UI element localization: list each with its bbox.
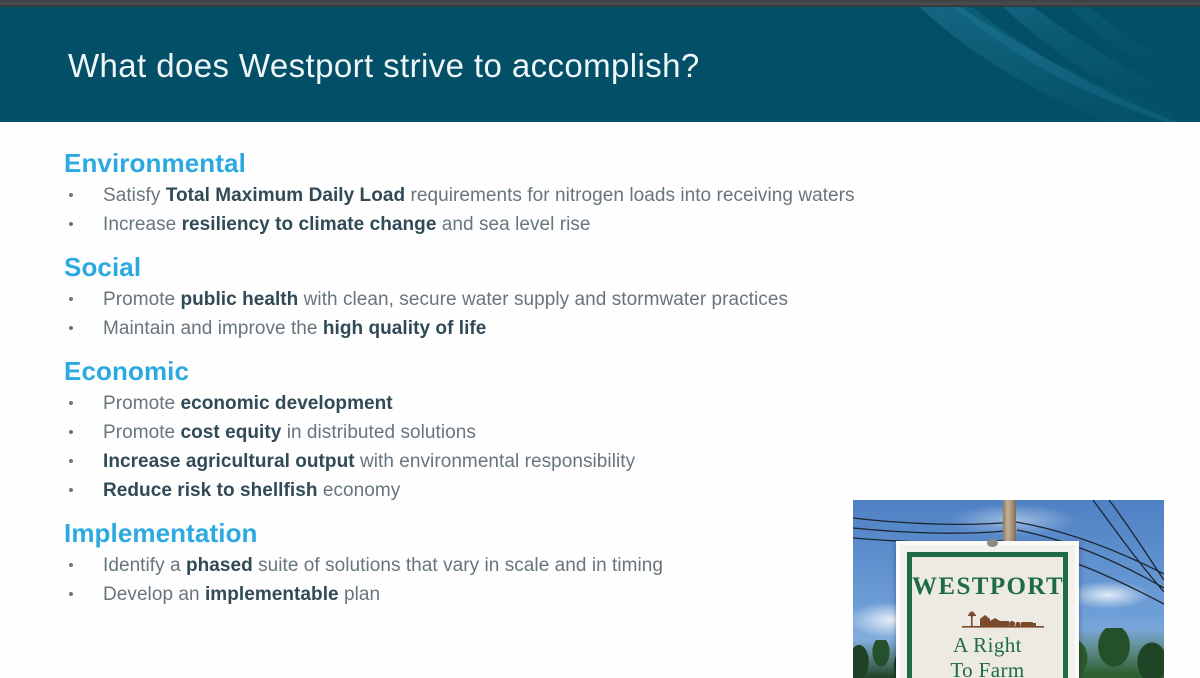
group-heading: Environmental — [64, 148, 855, 178]
bullet-dot-icon — [69, 401, 73, 405]
bullet-dot-icon — [69, 193, 73, 197]
slide-body: Environmental Satisfy Total Maximum Dail… — [0, 122, 1200, 678]
list-item: Promote economic development — [64, 389, 635, 418]
group-heading: Social — [64, 252, 788, 282]
sign-town-name: WESTPORT — [912, 574, 1063, 599]
slide-header: What does Westport strive to accomplish? — [0, 7, 1200, 122]
bullet-dot-icon — [69, 297, 73, 301]
list-item: Develop an implementable plan — [64, 580, 663, 609]
list-item: Promote public health with clean, secure… — [64, 285, 788, 314]
list-item: Promote cost equity in distributed solut… — [64, 418, 635, 447]
bullet-list: Satisfy Total Maximum Daily Load require… — [64, 181, 855, 239]
slide: What does Westport strive to accomplish?… — [0, 0, 1200, 678]
bullet-dot-icon — [69, 563, 73, 567]
farm-silhouette-icon — [962, 608, 1044, 628]
list-item: Maintain and improve the high quality of… — [64, 314, 788, 343]
sign-slogan-line: A Right — [912, 633, 1063, 658]
list-item: Identify a phased suite of solutions tha… — [64, 551, 663, 580]
bullet-text: Promote public health with clean, secure… — [103, 289, 788, 310]
list-item: Satisfy Total Maximum Daily Load require… — [64, 181, 855, 210]
bullet-dot-icon — [69, 459, 73, 463]
sign-slogan-line: To Farm — [912, 658, 1063, 678]
westport-sign-photo: WESTPORT — [853, 500, 1164, 678]
bullet-list: Identify a phased suite of solutions tha… — [64, 551, 663, 609]
bullet-text: Increase agricultural output with enviro… — [103, 451, 635, 472]
bullet-list: Promote economic development Promote cos… — [64, 389, 635, 505]
group-heading: Economic — [64, 356, 635, 386]
bullet-text: Increase resiliency to climate change an… — [103, 214, 591, 235]
bullet-text: Identify a phased suite of solutions tha… — [103, 555, 663, 576]
road-sign: WESTPORT — [896, 541, 1079, 678]
bullet-text: Maintain and improve the high quality of… — [103, 318, 486, 339]
group-economic: Economic Promote economic development Pr… — [64, 356, 635, 505]
list-item: Increase resiliency to climate change an… — [64, 210, 855, 239]
list-item: Reduce risk to shellfish economy — [64, 476, 635, 505]
group-social: Social Promote public health with clean,… — [64, 252, 788, 343]
sign-face: WESTPORT — [907, 552, 1068, 678]
bullet-text: Promote economic development — [103, 393, 393, 414]
bullet-text: Develop an implementable plan — [103, 584, 380, 605]
bullet-dot-icon — [69, 592, 73, 596]
group-heading: Implementation — [64, 518, 663, 548]
sign-slogan: A Right To Farm Community — [912, 633, 1063, 678]
group-implementation: Implementation Identify a phased suite o… — [64, 518, 663, 609]
bullet-text: Promote cost equity in distributed solut… — [103, 422, 476, 443]
group-environmental: Environmental Satisfy Total Maximum Dail… — [64, 148, 855, 239]
bullet-text: Reduce risk to shellfish economy — [103, 480, 400, 501]
sign-bolt-top — [987, 539, 998, 547]
page-title: What does Westport strive to accomplish? — [68, 47, 700, 85]
list-item: Increase agricultural output with enviro… — [64, 447, 635, 476]
bullet-dot-icon — [69, 222, 73, 226]
bullet-dot-icon — [69, 430, 73, 434]
bullet-dot-icon — [69, 488, 73, 492]
top-rule-divider — [0, 0, 1200, 7]
bullet-list: Promote public health with clean, secure… — [64, 285, 788, 343]
bullet-dot-icon — [69, 326, 73, 330]
bullet-text: Satisfy Total Maximum Daily Load require… — [103, 185, 855, 206]
